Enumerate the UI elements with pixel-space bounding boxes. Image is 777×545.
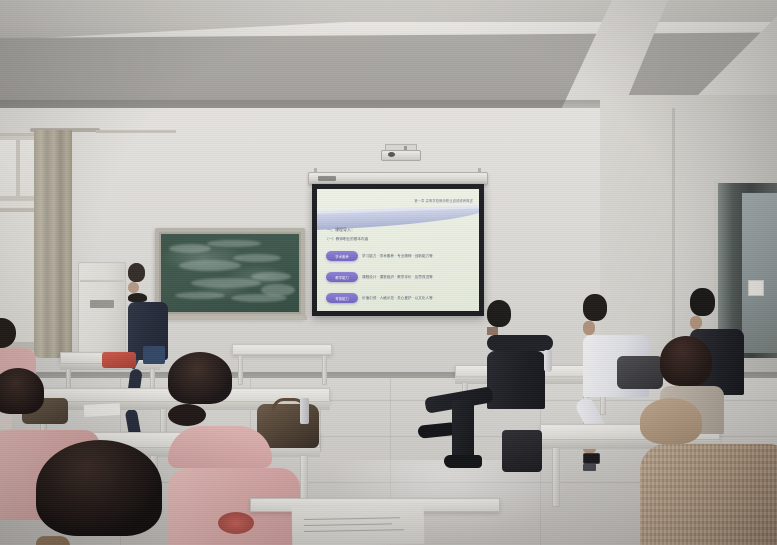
- projector-lens-icon: [388, 152, 395, 157]
- blue-object: [143, 346, 165, 364]
- face: [128, 282, 139, 293]
- black-backpack: [502, 430, 542, 472]
- desk-leg: [322, 355, 327, 385]
- red-object: [102, 352, 136, 368]
- slide-row-text: 学习能力 · 学术素养 · 专业精神 · 创新能力等: [362, 254, 433, 259]
- slide-row: 育德能力 价值引领 · 人格示范 · 关心爱护 · 以文化人等: [326, 293, 433, 303]
- cabinet-vent: [90, 300, 114, 308]
- hair-bun: [168, 404, 206, 426]
- hair: [128, 293, 147, 302]
- curtain-rod: [96, 130, 176, 133]
- head: [487, 300, 511, 327]
- desk-leg: [552, 447, 560, 507]
- head: [583, 294, 607, 321]
- slide-pill: 教学能力: [326, 272, 358, 282]
- face: [690, 316, 702, 329]
- head: [0, 318, 16, 348]
- chalkboard: [159, 232, 301, 314]
- person-beige-knit-sweater: [640, 398, 777, 545]
- head: [690, 288, 715, 316]
- hair: [660, 336, 712, 386]
- leg: [452, 400, 474, 462]
- window-mullion: [0, 208, 38, 212]
- head: [128, 263, 145, 282]
- slide-pill: 学术素养: [326, 251, 358, 261]
- window-mullion: [0, 196, 38, 201]
- hair: [0, 368, 44, 414]
- slide-subtitle: （一）教师职业的基本内涵: [325, 237, 368, 242]
- face-mask: [0, 414, 12, 430]
- mobile-phone: [583, 453, 600, 464]
- torso: [487, 351, 545, 409]
- phone-screen: [583, 464, 596, 471]
- slide-header: 第一章 高等学校教师职业道德修养概述: [414, 198, 473, 203]
- grey-shoulder-bag: [617, 356, 663, 389]
- slide-row: 教学能力 课程设计 · 课堂组织 · 教学评价 · 反思改进等: [326, 272, 433, 282]
- chalk-tray: [153, 316, 307, 320]
- seated-man-dark-suit: [487, 300, 553, 385]
- slide-row-text: 价值引领 · 人格示范 · 关心爱护 · 以文化人等: [362, 296, 433, 301]
- screen-brand-logo: [318, 176, 336, 181]
- window-curtain: [34, 130, 72, 358]
- slide-row-text: 课程设计 · 课堂组织 · 教学评价 · 反思改进等: [362, 275, 433, 280]
- water-bottle: [544, 350, 552, 372]
- slide-row: 学术素养 学习能力 · 学术素养 · 专业精神 · 创新能力等: [326, 251, 433, 261]
- student-dark-hair-foreground: [36, 440, 184, 545]
- head: [640, 398, 702, 444]
- torso-knit-sweater: [640, 444, 777, 545]
- door-sign: [748, 280, 764, 296]
- projector: [381, 150, 421, 161]
- hair: [36, 440, 162, 536]
- neck: [487, 327, 498, 335]
- cabinet-seam: [80, 280, 124, 282]
- hair: [168, 352, 232, 404]
- shoulders: [487, 335, 553, 351]
- face: [583, 321, 595, 335]
- projected-slide: 第一章 高等学校教师职业道德修养概述 一、课程导入： （一）教师职业的基本内涵 …: [317, 189, 479, 311]
- water-bottle: [300, 398, 309, 424]
- shoe: [444, 455, 482, 468]
- red-stamp-object: [218, 512, 254, 534]
- face-mask: [36, 536, 70, 545]
- slide-pill: 育德能力: [326, 293, 358, 303]
- floor-cabinet: [78, 262, 126, 362]
- classroom-photo: 第一章 高等学校教师职业道德修养概述 一、课程导入： （一）教师职业的基本内涵 …: [0, 0, 777, 545]
- window-mullion: [16, 140, 20, 196]
- open-notebook: [292, 505, 425, 545]
- slide-section-title: 一、课程导入：: [327, 227, 355, 233]
